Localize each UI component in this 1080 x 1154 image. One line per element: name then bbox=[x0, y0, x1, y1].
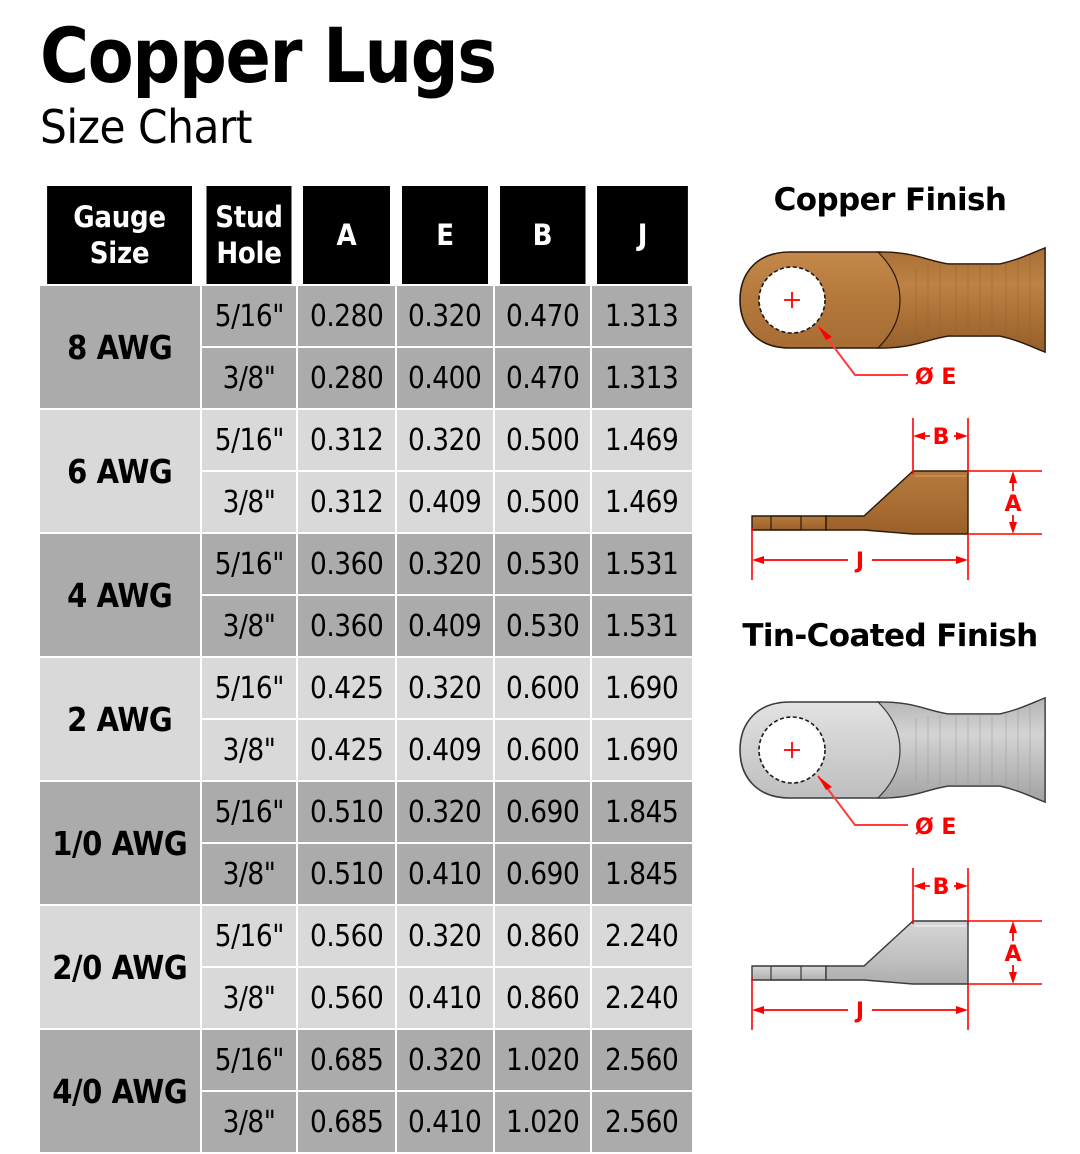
cell-j-value: 1.845 bbox=[605, 795, 678, 830]
cell-e-value: 0.409 bbox=[408, 733, 481, 768]
cell-b: 0.600 bbox=[494, 657, 591, 719]
copper-lug-barrel-shading bbox=[878, 248, 1045, 352]
cell-b: 0.690 bbox=[494, 843, 591, 905]
cell-j: 2.240 bbox=[591, 905, 693, 967]
tin-diameter-e-label: Ø E bbox=[915, 815, 956, 840]
cell-b-value: 0.600 bbox=[506, 733, 579, 768]
col-header-stud-line1: Stud bbox=[207, 199, 292, 235]
cell-stud-value: 3/8" bbox=[223, 485, 276, 520]
cell-b: 1.020 bbox=[494, 1091, 591, 1153]
cell-stud-value: 5/16" bbox=[214, 795, 283, 830]
cell-j: 1.531 bbox=[591, 533, 693, 595]
col-header-e: E bbox=[401, 186, 489, 285]
cell-a: 0.685 bbox=[297, 1029, 396, 1091]
cell-a: 0.425 bbox=[297, 719, 396, 781]
cell-b: 0.690 bbox=[494, 781, 591, 843]
cell-a: 0.560 bbox=[297, 967, 396, 1029]
cell-e-value: 0.320 bbox=[408, 299, 481, 334]
tin-lug-top-view-diagram: Ø E bbox=[700, 690, 1080, 850]
cell-stud-value: 3/8" bbox=[223, 733, 276, 768]
copper-finish-heading: Copper Finish bbox=[700, 182, 1080, 218]
cell-stud-value: 3/8" bbox=[223, 981, 276, 1016]
cell-b-value: 0.530 bbox=[506, 609, 579, 644]
cell-b: 0.860 bbox=[494, 905, 591, 967]
gauge-size-cell: 8 AWG bbox=[39, 285, 201, 409]
cell-b-value: 0.690 bbox=[506, 857, 579, 892]
cell-b: 0.470 bbox=[494, 285, 591, 347]
cell-j-value: 1.469 bbox=[605, 485, 678, 520]
cell-stud-value: 3/8" bbox=[223, 361, 276, 396]
cell-e-value: 0.320 bbox=[408, 919, 481, 954]
cell-a-value: 0.510 bbox=[310, 857, 383, 892]
cell-stud: 3/8" bbox=[201, 347, 297, 409]
gauge-size-cell: 2 AWG bbox=[39, 657, 201, 781]
table-row: 8 AWG5/16"0.2800.3200.4701.313 bbox=[39, 285, 693, 347]
cell-b-value: 0.500 bbox=[506, 423, 579, 458]
cell-j-value: 1.690 bbox=[605, 733, 678, 768]
cell-stud: 3/8" bbox=[201, 1091, 297, 1153]
cell-e-value: 0.410 bbox=[408, 981, 481, 1016]
cell-e-value: 0.320 bbox=[408, 671, 481, 706]
gauge-size-label: 2/0 AWG bbox=[52, 948, 187, 987]
gauge-size-cell: 1/0 AWG bbox=[39, 781, 201, 905]
cell-b: 0.470 bbox=[494, 347, 591, 409]
cell-b-value: 0.470 bbox=[506, 299, 579, 334]
cell-stud: 3/8" bbox=[201, 595, 297, 657]
table-body: 8 AWG5/16"0.2800.3200.4701.3133/8"0.2800… bbox=[39, 285, 693, 1153]
title-block: Copper Lugs Size Chart bbox=[40, 14, 700, 154]
cell-a-value: 0.280 bbox=[310, 299, 383, 334]
cell-stud: 5/16" bbox=[201, 533, 297, 595]
cell-a-value: 0.360 bbox=[310, 547, 383, 582]
cell-e: 0.409 bbox=[396, 719, 494, 781]
cell-b: 0.530 bbox=[494, 595, 591, 657]
side-barrel bbox=[826, 471, 968, 534]
cell-j: 1.313 bbox=[591, 347, 693, 409]
cell-j-value: 2.240 bbox=[605, 981, 678, 1016]
cell-a: 0.510 bbox=[297, 843, 396, 905]
cell-e-value: 0.320 bbox=[408, 423, 481, 458]
cell-j: 1.845 bbox=[591, 781, 693, 843]
cell-stud: 5/16" bbox=[201, 657, 297, 719]
cell-a-value: 0.312 bbox=[310, 485, 383, 520]
cell-a: 0.425 bbox=[297, 657, 396, 719]
cell-j: 2.560 bbox=[591, 1029, 693, 1091]
tin-dimension-a-label: A bbox=[1004, 942, 1021, 967]
cell-e: 0.320 bbox=[396, 657, 494, 719]
tin-side-pad bbox=[752, 966, 826, 980]
gauge-size-label: 6 AWG bbox=[67, 452, 172, 491]
cell-a: 0.360 bbox=[297, 533, 396, 595]
cell-j: 1.469 bbox=[591, 409, 693, 471]
cell-b-value: 0.860 bbox=[506, 981, 579, 1016]
col-header-stud-line2: Hole bbox=[207, 235, 292, 271]
cell-j-value: 1.690 bbox=[605, 671, 678, 706]
tin-dimension-a: A bbox=[1001, 921, 1025, 984]
cell-e: 0.400 bbox=[396, 347, 494, 409]
gauge-size-label: 2 AWG bbox=[67, 700, 172, 739]
cell-stud: 5/16" bbox=[201, 781, 297, 843]
tin-dimension-b: B bbox=[913, 874, 968, 900]
cell-e-value: 0.409 bbox=[408, 485, 481, 520]
dimension-j: J bbox=[752, 548, 968, 574]
cell-j-value: 1.845 bbox=[605, 857, 678, 892]
cell-stud-value: 5/16" bbox=[214, 671, 283, 706]
cell-a: 0.312 bbox=[297, 409, 396, 471]
cell-b-value: 0.470 bbox=[506, 361, 579, 396]
cell-e: 0.409 bbox=[396, 471, 494, 533]
cell-j-value: 1.531 bbox=[605, 547, 678, 582]
cell-j: 1.690 bbox=[591, 657, 693, 719]
cell-b: 1.020 bbox=[494, 1029, 591, 1091]
cell-e: 0.320 bbox=[396, 781, 494, 843]
tin-dimension-j: J bbox=[752, 998, 968, 1024]
tin-dimension-j-label: J bbox=[854, 999, 864, 1024]
cell-j-value: 1.313 bbox=[605, 299, 678, 334]
tin-coated-finish-heading: Tin-Coated Finish bbox=[700, 618, 1080, 654]
col-header-a: A bbox=[302, 186, 391, 285]
cell-e-value: 0.410 bbox=[408, 857, 481, 892]
cell-e: 0.320 bbox=[396, 409, 494, 471]
cell-a-value: 0.560 bbox=[310, 919, 383, 954]
col-header-b: B bbox=[499, 186, 586, 285]
cell-b-value: 0.690 bbox=[506, 795, 579, 830]
cell-j: 1.469 bbox=[591, 471, 693, 533]
page-subtitle: Size Chart bbox=[40, 100, 647, 154]
cell-stud: 5/16" bbox=[201, 1029, 297, 1091]
dimension-b-label: B bbox=[933, 425, 950, 450]
tin-lug-barrel-shading bbox=[878, 698, 1045, 802]
cell-a: 0.510 bbox=[297, 781, 396, 843]
cell-stud: 3/8" bbox=[201, 843, 297, 905]
gauge-size-cell: 2/0 AWG bbox=[39, 905, 201, 1029]
col-header-gauge-size: Gauge Size bbox=[47, 186, 193, 285]
table-row: 1/0 AWG5/16"0.5100.3200.6901.845 bbox=[39, 781, 693, 843]
table-row: 6 AWG5/16"0.3120.3200.5001.469 bbox=[39, 409, 693, 471]
cell-j-value: 2.240 bbox=[605, 919, 678, 954]
cell-a: 0.312 bbox=[297, 471, 396, 533]
cell-a: 0.280 bbox=[297, 347, 396, 409]
cell-e-value: 0.409 bbox=[408, 609, 481, 644]
copper-lug-side-view-diagram: B A J bbox=[730, 408, 1075, 588]
gauge-size-cell: 4 AWG bbox=[39, 533, 201, 657]
cell-a-value: 0.312 bbox=[310, 423, 383, 458]
cell-j: 2.560 bbox=[591, 1091, 693, 1153]
cell-j: 1.690 bbox=[591, 719, 693, 781]
cell-stud-value: 5/16" bbox=[214, 299, 283, 334]
col-header-stud-hole: Stud Hole bbox=[206, 186, 292, 285]
cell-j: 1.313 bbox=[591, 285, 693, 347]
table-row: 2 AWG5/16"0.4250.3200.6001.690 bbox=[39, 657, 693, 719]
cell-b: 0.500 bbox=[494, 471, 591, 533]
cell-b: 0.500 bbox=[494, 409, 591, 471]
gauge-size-label: 4 AWG bbox=[67, 576, 172, 615]
cell-e-value: 0.400 bbox=[408, 361, 481, 396]
cell-j: 2.240 bbox=[591, 967, 693, 1029]
lug-size-table: Gauge Size Stud Hole A E B J 8 AWG5/16"0… bbox=[38, 186, 694, 1154]
diameter-e-label: Ø E bbox=[915, 365, 956, 390]
cell-j-value: 1.313 bbox=[605, 361, 678, 396]
table-header: Gauge Size Stud Hole A E B J bbox=[39, 186, 693, 285]
table-row: 4 AWG5/16"0.3600.3200.5301.531 bbox=[39, 533, 693, 595]
table-header-row: Gauge Size Stud Hole A E B J bbox=[39, 186, 693, 285]
cell-stud-value: 5/16" bbox=[214, 547, 283, 582]
cell-stud-value: 5/16" bbox=[214, 423, 283, 458]
cell-e: 0.320 bbox=[396, 533, 494, 595]
gauge-size-label: 8 AWG bbox=[67, 328, 172, 367]
dimension-a-label: A bbox=[1004, 492, 1021, 517]
tin-lug-side-view-diagram: B A J bbox=[730, 858, 1075, 1038]
dimension-j-label: J bbox=[854, 549, 864, 574]
col-header-gauge-line1: Gauge bbox=[47, 199, 192, 235]
cell-a-value: 0.685 bbox=[310, 1105, 383, 1140]
cell-e-value: 0.320 bbox=[408, 547, 481, 582]
copper-lug-top-view-diagram: Ø E bbox=[700, 240, 1080, 400]
cell-a: 0.560 bbox=[297, 905, 396, 967]
cell-a-value: 0.425 bbox=[310, 733, 383, 768]
tin-side-barrel bbox=[826, 921, 968, 984]
cell-e: 0.320 bbox=[396, 285, 494, 347]
tin-dimension-b-label: B bbox=[933, 875, 950, 900]
cell-j-value: 1.531 bbox=[605, 609, 678, 644]
cell-stud-value: 5/16" bbox=[214, 1043, 283, 1078]
cell-stud-value: 5/16" bbox=[214, 919, 283, 954]
side-pad bbox=[752, 516, 826, 530]
cell-b: 0.860 bbox=[494, 967, 591, 1029]
gauge-size-label: 4/0 AWG bbox=[52, 1072, 187, 1111]
cell-a-value: 0.280 bbox=[310, 361, 383, 396]
cell-stud: 3/8" bbox=[201, 719, 297, 781]
dimension-a: A bbox=[1001, 471, 1025, 534]
cell-stud-value: 3/8" bbox=[223, 609, 276, 644]
cell-a: 0.280 bbox=[297, 285, 396, 347]
cell-b-value: 1.020 bbox=[506, 1043, 579, 1078]
table-row: 2/0 AWG5/16"0.5600.3200.8602.240 bbox=[39, 905, 693, 967]
cell-j-value: 2.560 bbox=[605, 1043, 678, 1078]
cell-b: 0.600 bbox=[494, 719, 591, 781]
cell-stud-value: 3/8" bbox=[223, 1105, 276, 1140]
gauge-size-label: 1/0 AWG bbox=[52, 824, 187, 863]
cell-b-value: 0.860 bbox=[506, 919, 579, 954]
cell-j: 1.531 bbox=[591, 595, 693, 657]
cell-j: 1.845 bbox=[591, 843, 693, 905]
col-header-j: J bbox=[596, 186, 688, 285]
col-header-gauge-line2: Size bbox=[47, 235, 192, 271]
cell-stud: 3/8" bbox=[201, 967, 297, 1029]
cell-j-value: 1.469 bbox=[605, 423, 678, 458]
cell-j-value: 2.560 bbox=[605, 1105, 678, 1140]
page-title: Copper Lugs bbox=[40, 14, 621, 98]
cell-e: 0.320 bbox=[396, 905, 494, 967]
cell-stud: 5/16" bbox=[201, 285, 297, 347]
cell-stud: 3/8" bbox=[201, 471, 297, 533]
cell-e: 0.409 bbox=[396, 595, 494, 657]
cell-e: 0.410 bbox=[396, 843, 494, 905]
cell-e: 0.410 bbox=[396, 1091, 494, 1153]
cell-a-value: 0.425 bbox=[310, 671, 383, 706]
gauge-size-cell: 6 AWG bbox=[39, 409, 201, 533]
cell-b: 0.530 bbox=[494, 533, 591, 595]
cell-a-value: 0.560 bbox=[310, 981, 383, 1016]
cell-a: 0.360 bbox=[297, 595, 396, 657]
cell-a-value: 0.510 bbox=[310, 795, 383, 830]
cell-b-value: 1.020 bbox=[506, 1105, 579, 1140]
cell-e-value: 0.320 bbox=[408, 795, 481, 830]
cell-stud: 5/16" bbox=[201, 409, 297, 471]
cell-e: 0.320 bbox=[396, 1029, 494, 1091]
cell-a: 0.685 bbox=[297, 1091, 396, 1153]
dimension-b: B bbox=[913, 424, 968, 450]
cell-b-value: 0.600 bbox=[506, 671, 579, 706]
cell-stud-value: 3/8" bbox=[223, 857, 276, 892]
cell-b-value: 0.530 bbox=[506, 547, 579, 582]
cell-a-value: 0.360 bbox=[310, 609, 383, 644]
cell-b-value: 0.500 bbox=[506, 485, 579, 520]
cell-e-value: 0.410 bbox=[408, 1105, 481, 1140]
cell-e-value: 0.320 bbox=[408, 1043, 481, 1078]
cell-e: 0.410 bbox=[396, 967, 494, 1029]
cell-a-value: 0.685 bbox=[310, 1043, 383, 1078]
table-row: 4/0 AWG5/16"0.6850.3201.0202.560 bbox=[39, 1029, 693, 1091]
cell-stud: 5/16" bbox=[201, 905, 297, 967]
gauge-size-cell: 4/0 AWG bbox=[39, 1029, 201, 1153]
